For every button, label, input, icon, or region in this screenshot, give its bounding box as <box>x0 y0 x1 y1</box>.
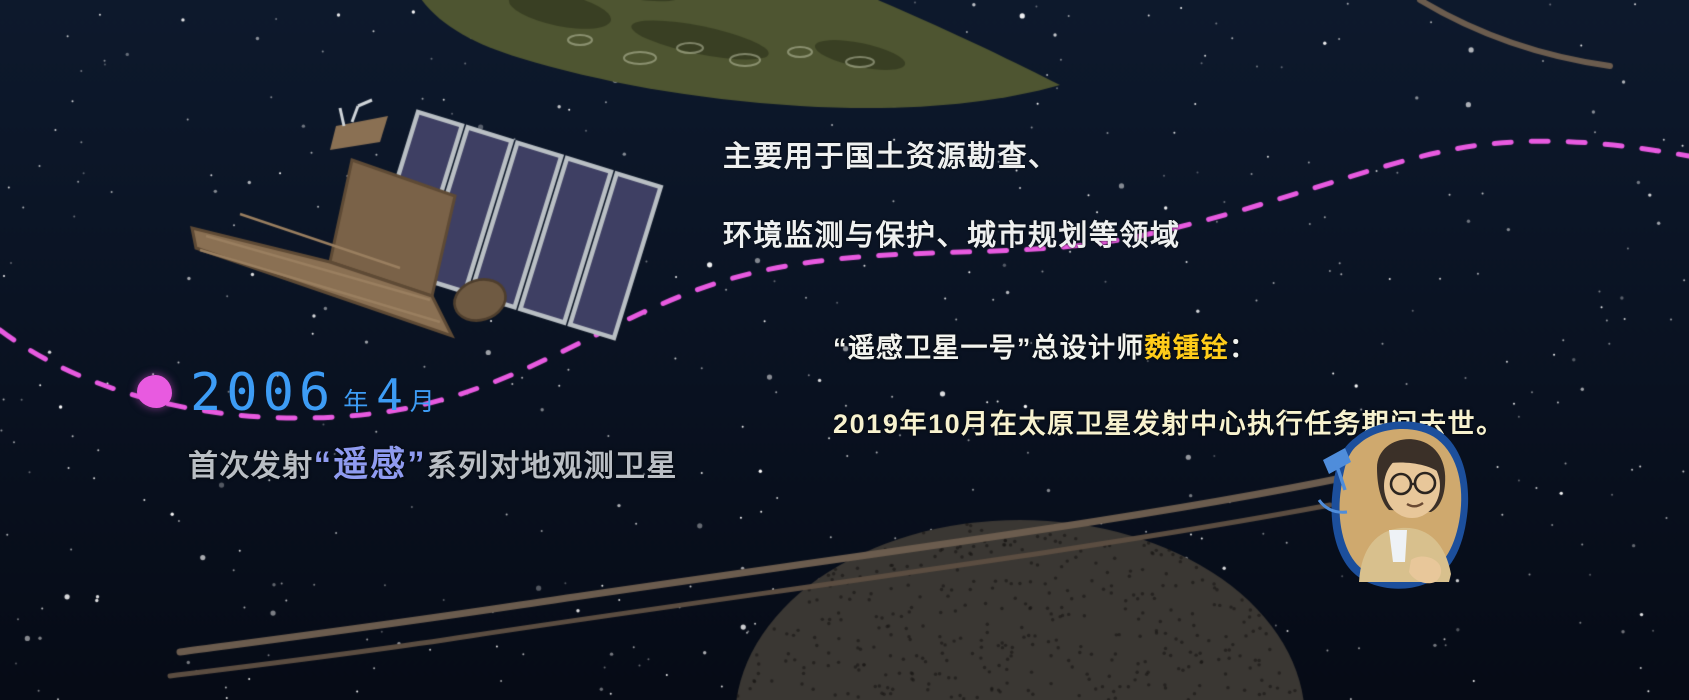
date-year-unit: 年 <box>343 389 368 415</box>
timeline-marker-dot <box>137 375 172 408</box>
caption-quote-close: ” <box>407 447 427 484</box>
designer-title-prefix: “遥感卫星一号”总设计师 <box>833 333 1144 363</box>
date-month-unit: 月 <box>410 389 435 415</box>
caption-suffix: 系列对地观测卫星 <box>427 451 678 483</box>
description-line-2: 环境监测与保护、城市规划等领域 <box>723 221 1181 251</box>
designer-title-line: “遥感卫星一号”总设计师魏锺铨： <box>833 334 1505 362</box>
engineer-portrait-medallion <box>1315 412 1483 592</box>
infographic-scene: 主要用于国土资源勘查、 环境监测与保护、城市规划等领域 “遥感卫星一号”总设计师… <box>0 0 1689 700</box>
designer-name: 魏锺铨 <box>1144 333 1229 363</box>
caption-highlight: 遥感 <box>333 447 407 484</box>
description-line-1: 主要用于国土资源勘查、 <box>723 142 1181 172</box>
date-year: 2006 <box>190 366 335 421</box>
date-month: 4 <box>376 373 403 419</box>
designer-title-suffix: ： <box>1229 333 1257 363</box>
timeline-caption: 首次发射 “ 遥感 ” 系列对地观测卫星 <box>188 447 678 484</box>
description-text-block: 主要用于国土资源勘查、 环境监测与保护、城市规划等领域 <box>723 108 1181 300</box>
timeline-date: 2006 年 4 月 <box>190 366 435 421</box>
caption-quote-open: “ <box>314 447 334 484</box>
caption-prefix: 首次发射 <box>188 451 314 483</box>
